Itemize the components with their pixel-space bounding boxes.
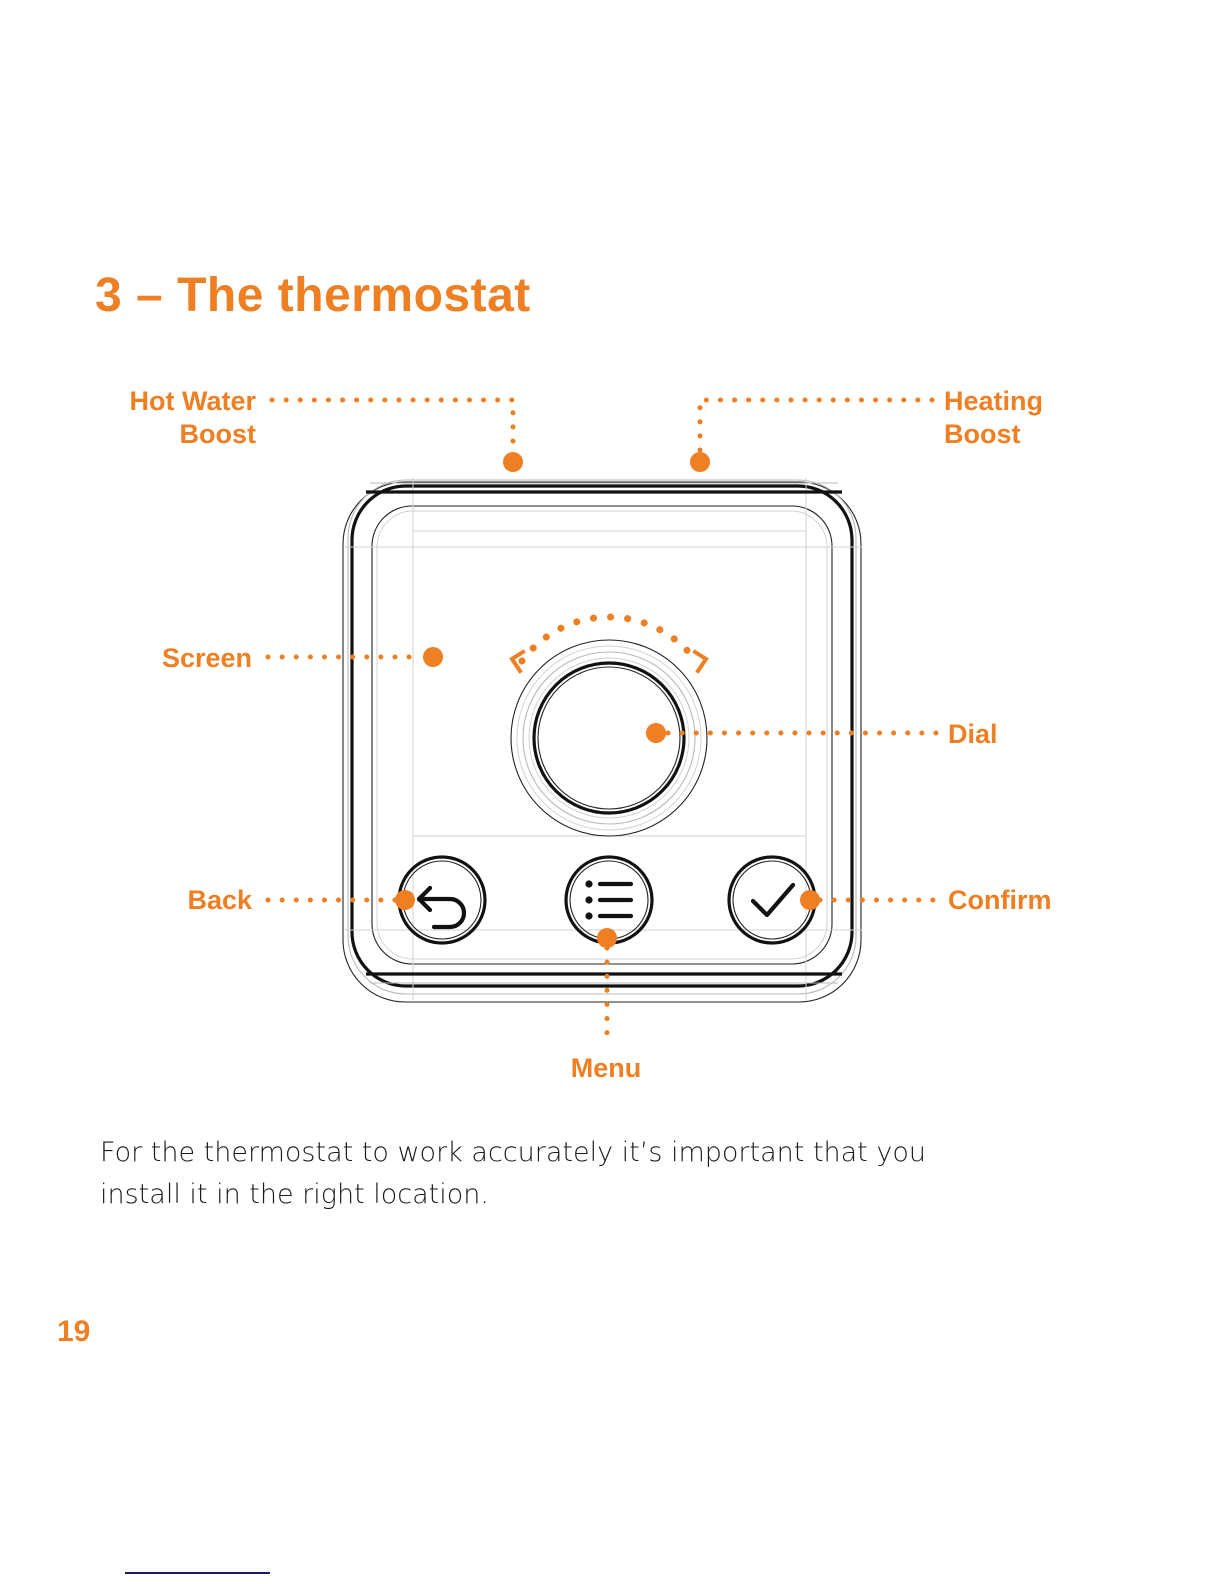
- leader-heating-boost: [690, 400, 932, 472]
- body-paragraph: For the thermostat to work accurately it…: [100, 1132, 1000, 1216]
- anchor-dot-dial: [646, 723, 666, 743]
- leader-back: [268, 890, 415, 910]
- rotary-dial[interactable]: [511, 640, 707, 836]
- page-number: 19: [57, 1315, 90, 1349]
- leader-dial: [646, 723, 936, 743]
- callout-label-hot-water-boost: Hot Water Boost: [40, 385, 256, 451]
- callout-label-screen: Screen: [40, 642, 252, 675]
- leader-hot-water-boost: [272, 400, 523, 472]
- anchor-dot-heating-boost: [690, 452, 710, 472]
- leader-screen: [268, 647, 443, 667]
- anchor-dot-hot-water-boost: [503, 452, 523, 472]
- back-arrow-icon: [419, 888, 464, 927]
- checkmark-icon: [753, 885, 793, 915]
- anchor-dot-back: [395, 890, 415, 910]
- footer-rule: [125, 1572, 270, 1574]
- anchor-dot-screen: [423, 647, 443, 667]
- callout-label-heating-boost: Heating Boost: [944, 385, 1174, 451]
- leader-confirm: [800, 890, 936, 910]
- list-menu-icon: [585, 880, 631, 919]
- callout-label-dial: Dial: [948, 718, 1148, 751]
- anchor-dot-menu: [597, 928, 617, 948]
- display-screen: [413, 531, 806, 836]
- leader-menu: [597, 928, 617, 1040]
- callout-label-back: Back: [40, 884, 252, 917]
- anchor-dot-confirm: [800, 890, 820, 910]
- page-title: 3 – The thermostat: [95, 268, 531, 323]
- callout-label-menu: Menu: [508, 1052, 704, 1085]
- callout-label-confirm: Confirm: [948, 884, 1178, 917]
- thermostat-body: [343, 478, 862, 1002]
